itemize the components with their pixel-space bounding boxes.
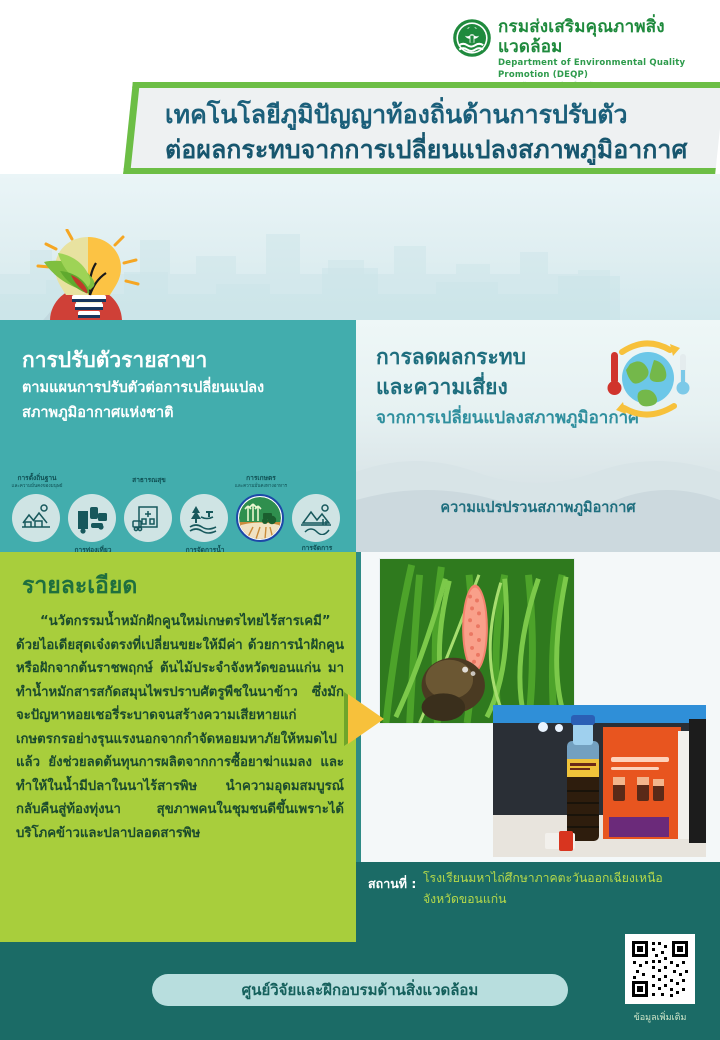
tourism-city-bus-icon	[68, 494, 116, 542]
detail-body-text: “นวัตกรรมน้ำหมักฝักคูนใหม่เกษตรไทยไร้สาร…	[16, 610, 344, 845]
mitigation-heading-line1: การลดผลกระทบ	[376, 342, 526, 372]
sector-panel-subheading-line1: ตามแผนการปรับตัวต่อการเปลี่ยนแปลง	[22, 376, 342, 401]
qr-caption: ข้อมูลเพิ่มเติม	[617, 1010, 703, 1024]
location-label: สถานที่ :	[368, 874, 416, 894]
hero-section: ชื่อเทคโนโลยี : “น้ำหมักฝักคูน” เปลี่ยนใ…	[0, 174, 720, 320]
mitigation-heading-line2: และความเสี่ยง	[376, 372, 526, 402]
lightbulb-leaf-map-pin-icon	[20, 229, 150, 320]
qr-code-icon[interactable]	[625, 934, 695, 1004]
location-value: โรงเรียนมหาไถ่ศึกษาภาคตะวันออกเฉียงเหนือ…	[423, 868, 695, 910]
title-line-2: ต่อผลกระทบจากการเปลี่ยนแปลงสภาพภูมิอากาศ	[165, 132, 720, 167]
earth-thermometer-cycle-icon	[592, 336, 702, 422]
play-arrow-icon	[342, 688, 388, 750]
sector-label-settlement: การตั้งถิ่นฐาน	[4, 474, 70, 482]
title-line-1: เทคโนโลยีภูมิปัญญาท้องถิ่นด้านการปรับตัว	[165, 97, 720, 132]
sector-item-settlement[interactable]: การตั้งถิ่นฐาน และความมั่นคงของมนุษย์	[12, 494, 62, 542]
title-banner: เทคโนโลยีภูมิปัญญาท้องถิ่นด้านการปรับตัว…	[123, 82, 720, 174]
sector-item-water-management[interactable]: การจัดการน้ำ	[180, 494, 230, 542]
sector-sublabel-settlement: และความมั่นคงของมนุษย์	[0, 483, 74, 491]
mitigation-panel: การลดผลกระทบ และความเสี่ยง จากการเปลี่ยน…	[356, 320, 720, 552]
sector-panel-subheading-line2: สภาพภูมิอากาศแห่งชาติ	[22, 401, 342, 426]
org-name-thai: กรมส่งเสริมคุณภาพสิ่งแวดล้อม	[498, 17, 720, 57]
location-value-line2: จังหวัดขอนแก่น	[423, 889, 695, 910]
sector-label-public-health: สาธารณสุข	[118, 476, 180, 484]
sector-label-natural-resources: การจัดการ	[286, 544, 348, 552]
settlement-houses-icon	[12, 494, 60, 542]
sector-panel-subheading: ตามแผนการปรับตัวต่อการเปลี่ยนแปลง สภาพภู…	[22, 376, 342, 426]
detail-heading: รายละเอียด	[22, 568, 137, 604]
sector-icon-strip: การตั้งถิ่นฐาน และความมั่นคงของมนุษย์ กา…	[6, 472, 350, 548]
sector-panel-heading: การปรับตัวรายสาขา	[22, 344, 207, 377]
poster-root: กรมส่งเสริมคุณภาพสิ่งแวดล้อม Department …	[0, 0, 720, 1040]
sector-label-agriculture: การเกษตร	[230, 474, 292, 482]
water-management-tap-icon	[180, 494, 228, 542]
public-health-hospital-icon	[124, 494, 172, 542]
sector-sublabel-agriculture: และความมั่นคงทางอาหาร	[222, 483, 300, 491]
footer-text: ศูนย์วิจัยและฝึกอบรมด้านสิ่งแวดล้อม	[242, 978, 479, 1002]
detail-panel: รายละเอียด “นวัตกรรมน้ำหมักฝักคูนใหม่เกษ…	[0, 552, 356, 942]
agriculture-field-tractor-icon	[236, 494, 284, 542]
sector-item-natural-resources[interactable]: การจัดการ ทรัพยากรธรรมชาติ	[292, 494, 342, 542]
sector-item-agriculture[interactable]: การเกษตร และความมั่นคงทางอาหาร	[236, 494, 286, 542]
footer-pill[interactable]: ศูนย์วิจัยและฝึกอบรมด้านสิ่งแวดล้อม	[152, 974, 568, 1006]
thermometer-hot-icon	[608, 352, 622, 395]
climate-variability-text: ความแปรปรวนสภาพภูมิอากาศ	[356, 496, 720, 519]
fermented-extract-bottle-exhibit-photo	[493, 705, 706, 857]
header: กรมส่งเสริมคุณภาพสิ่งแวดล้อม Department …	[0, 0, 720, 72]
thermometer-cold-icon	[677, 354, 690, 395]
tree-water-circle-icon	[452, 18, 492, 58]
org-name-english: Department of Environmental Quality Prom…	[498, 57, 720, 81]
golden-apple-snail-rice-photo	[379, 558, 575, 724]
sector-adaptation-panel: การปรับตัวรายสาขา ตามแผนการปรับตัวต่อการ…	[0, 320, 356, 552]
sector-item-tourism[interactable]: การท่องเที่ยว	[68, 494, 118, 542]
location-value-line1: โรงเรียนมหาไถ่ศึกษาภาคตะวันออกเฉียงเหนือ	[423, 868, 695, 889]
mitigation-heading: การลดผลกระทบ และความเสี่ยง	[376, 342, 526, 402]
natural-resources-mountain-icon	[292, 494, 340, 542]
sector-item-public-health[interactable]: สาธารณสุข	[124, 494, 174, 542]
